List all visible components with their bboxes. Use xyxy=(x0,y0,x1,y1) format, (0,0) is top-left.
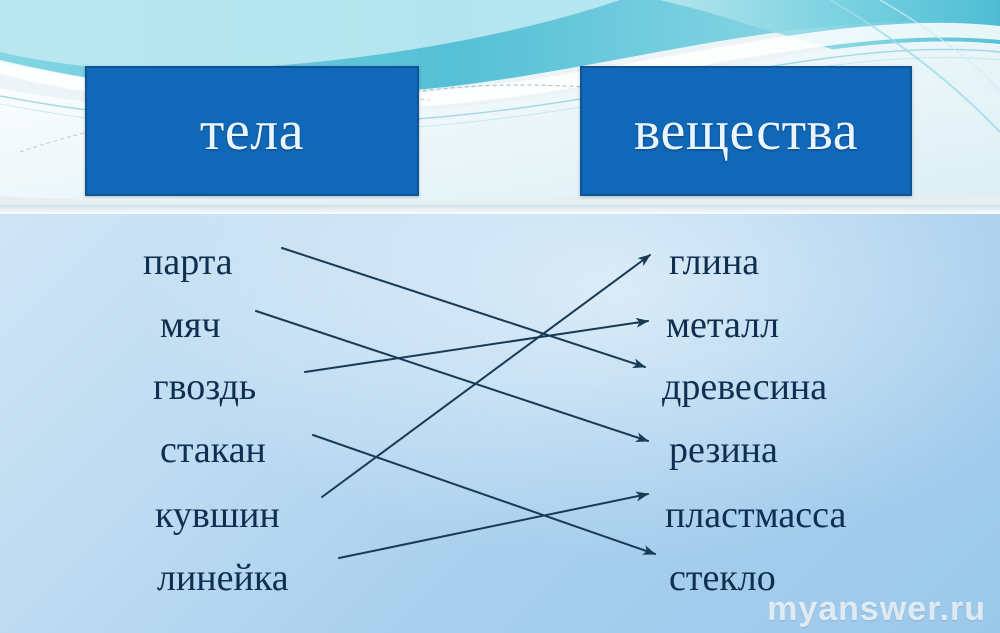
word-right-1[interactable]: металл xyxy=(666,306,779,344)
word-left-1-label: мяч xyxy=(160,304,221,346)
word-left-0[interactable]: парта xyxy=(143,243,233,281)
word-right-0-label: глина xyxy=(669,241,759,283)
word-right-2[interactable]: древесина xyxy=(662,368,827,406)
word-right-4-label: пластмасса xyxy=(665,494,846,536)
word-right-1-label: металл xyxy=(666,304,779,346)
word-right-3-label: резина xyxy=(669,429,778,471)
word-left-5[interactable]: линейка xyxy=(157,559,289,597)
word-left-4-label: кувшин xyxy=(155,494,280,536)
word-left-0-label: парта xyxy=(143,241,233,283)
header-box-tela-label: тела xyxy=(200,103,304,159)
word-left-2[interactable]: гвоздь xyxy=(153,368,256,406)
header-box-veshestva-label: вещества xyxy=(634,103,858,159)
word-left-4[interactable]: кувшин xyxy=(155,496,280,534)
word-left-5-label: линейка xyxy=(157,557,289,599)
word-right-5-label: стекло xyxy=(669,557,776,599)
header-box-veshestva[interactable]: вещества xyxy=(580,66,912,196)
word-right-3[interactable]: резина xyxy=(669,431,778,469)
watermark-text: myanswer.ru xyxy=(767,590,986,628)
word-left-1[interactable]: мяч xyxy=(160,306,221,344)
word-left-2-label: гвоздь xyxy=(153,366,256,408)
word-right-0[interactable]: глина xyxy=(669,243,759,281)
word-right-4[interactable]: пластмасса xyxy=(665,496,846,534)
word-left-3-label: стакан xyxy=(160,429,266,471)
slide-canvas: тела вещества парта мяч гвоздь стакан ку… xyxy=(0,0,1000,633)
word-right-2-label: древесина xyxy=(662,366,827,408)
watermark: myanswer.ru xyxy=(767,590,986,629)
header-box-tela[interactable]: тела xyxy=(85,66,419,196)
word-left-3[interactable]: стакан xyxy=(160,431,266,469)
word-right-5[interactable]: стекло xyxy=(669,559,776,597)
